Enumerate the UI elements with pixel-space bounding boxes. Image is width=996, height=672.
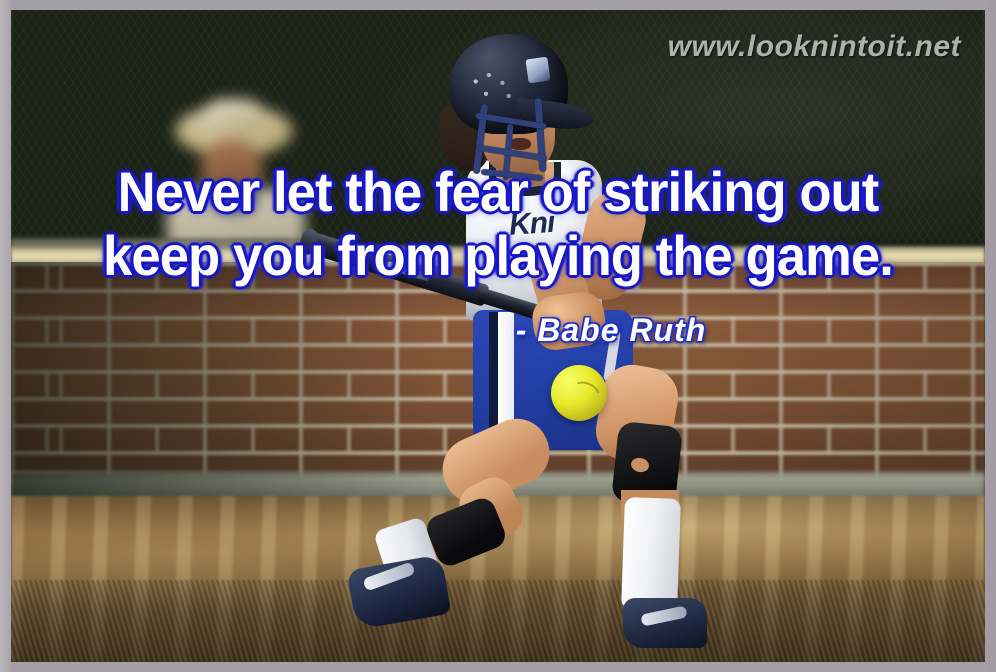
watermark-url: www.looknintoit.net — [668, 30, 961, 64]
quote-poster: Kni — [0, 0, 996, 672]
quote-text-block: Never let the fear of striking out keep … — [11, 160, 985, 288]
quote-attribution: - Babe Ruth — [11, 312, 985, 349]
quote-line-1: Never let the fear of striking out — [40, 160, 956, 224]
quote-line-2: keep you from playing the game. — [40, 224, 956, 288]
front-cleat — [623, 598, 707, 648]
helmet-logo — [525, 57, 550, 84]
photograph: Kni — [11, 10, 985, 662]
front-sock — [621, 497, 681, 611]
